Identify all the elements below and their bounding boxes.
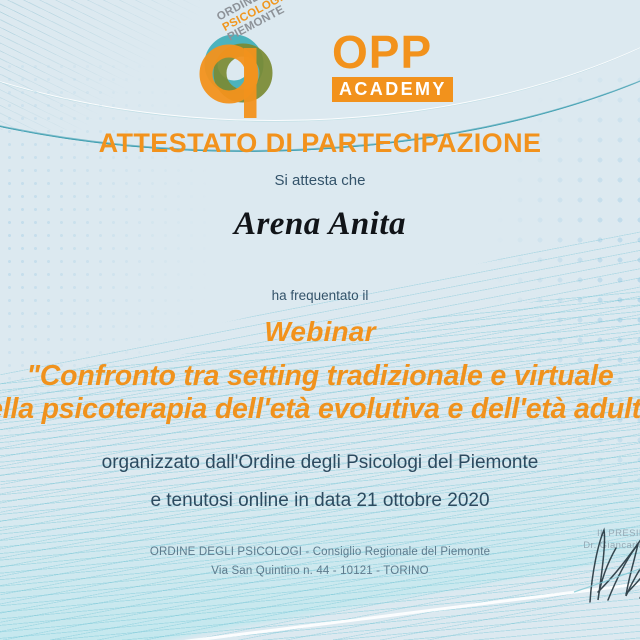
certificate-document: ORDINE PSICOLOGI PIEMONTE OPP ACADEMY AT… [0, 0, 640, 640]
footer-line-2: Via San Quintino n. 44 - 10121 - TORINO [0, 562, 640, 581]
course-title: "Confronto tra setting tradizionale e vi… [0, 360, 640, 426]
handwritten-signature-mark [568, 522, 640, 608]
recipient-name: Arena Anita [0, 206, 640, 243]
footer-address-block: ORDINE DEGLI PSICOLOGI - Consiglio Regio… [0, 543, 640, 581]
certificate-header: ORDINE PSICOLOGI PIEMONTE OPP ACADEMY [0, 6, 640, 118]
course-title-line-1: "Confronto tra setting tradizionale e vi… [0, 360, 640, 393]
event-date-line: e tenutosi online in data 21 ottobre 202… [0, 490, 640, 512]
opp-wordmark: OPP [332, 30, 462, 74]
attests-label: Si attesta che [0, 172, 640, 189]
signature-block: IL PRESIDENTE Dr. Giancarlo Marenco [560, 528, 640, 552]
academy-label-bar: ACADEMY [332, 77, 453, 102]
attended-label: ha frequentato il [0, 288, 640, 303]
certificate-heading: ATTESTATO DI PARTECIPAZIONE [0, 128, 640, 159]
opp-piemonte-logo: ORDINE PSICOLOGI PIEMONTE [196, 12, 328, 120]
course-title-line-2: nella psicoterapia dell'età evolutiva e … [0, 393, 640, 426]
organizer-line: organizzato dall'Ordine degli Psicologi … [0, 452, 640, 474]
event-type-label: Webinar [0, 316, 640, 348]
footer-line-1: ORDINE DEGLI PSICOLOGI - Consiglio Regio… [0, 543, 640, 562]
opp-academy-logo: OPP ACADEMY [332, 30, 462, 102]
